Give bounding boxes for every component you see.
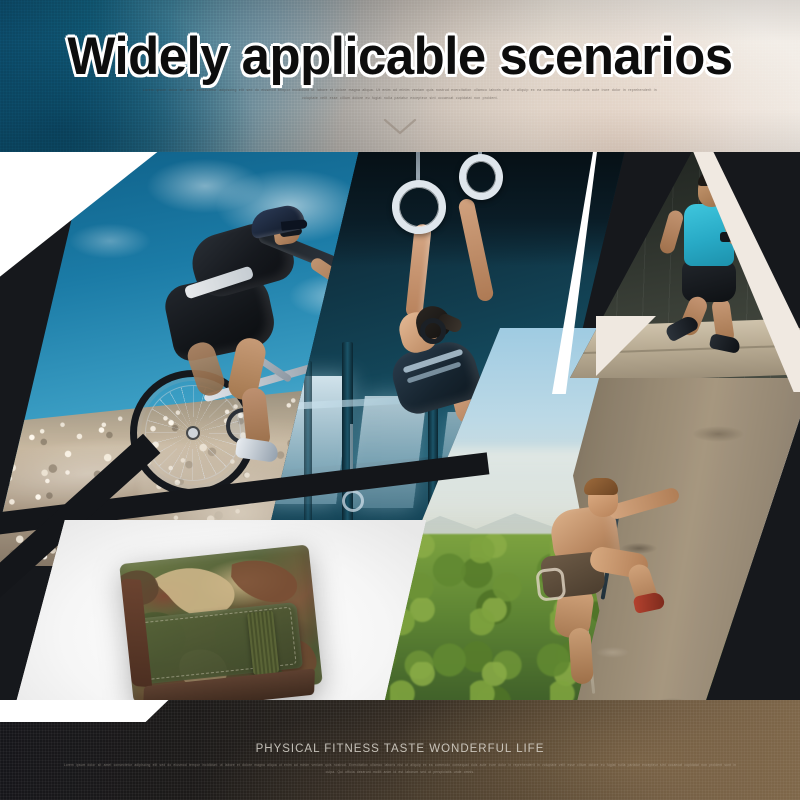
climber-hair: [584, 478, 618, 495]
climber-arm: [607, 486, 680, 520]
footer-fineprint: Lorem ipsum dolor sit amet consectetur a…: [60, 762, 740, 777]
headphones-icon: [420, 318, 446, 344]
ring-strap: [416, 152, 420, 182]
runner-shorts: [682, 260, 736, 302]
product-showcase-panel[interactable]: [6, 520, 426, 720]
gymnast-left-arm: [405, 223, 432, 318]
gym-background-ring: [342, 490, 364, 512]
header-subcopy: Lorem ipsum dolor sit amet consectetur a…: [140, 86, 660, 102]
runner-rear-shoe: [709, 333, 741, 354]
chevron-down-icon: [383, 118, 417, 136]
footer-caption: PHYSICAL FITNESS TASTE WONDERFUL LIFE: [0, 743, 800, 755]
climber-figure: [526, 478, 716, 708]
runner-left-arm: [658, 209, 685, 255]
gymnast-right-arm: [457, 197, 494, 302]
header-band: Widely applicable scenarios Lorem ipsum …: [0, 0, 800, 152]
footer-band: PHYSICAL FITNESS TASTE WONDERFUL LIFE Lo…: [0, 700, 800, 800]
climber-rear-shin: [568, 627, 594, 684]
camouflage-pouch-product[interactable]: [119, 544, 323, 703]
page-title: Widely applicable scenarios: [16, 30, 784, 83]
scenario-collage: [0, 152, 800, 720]
promotional-poster: Widely applicable scenarios Lorem ipsum …: [0, 0, 800, 800]
